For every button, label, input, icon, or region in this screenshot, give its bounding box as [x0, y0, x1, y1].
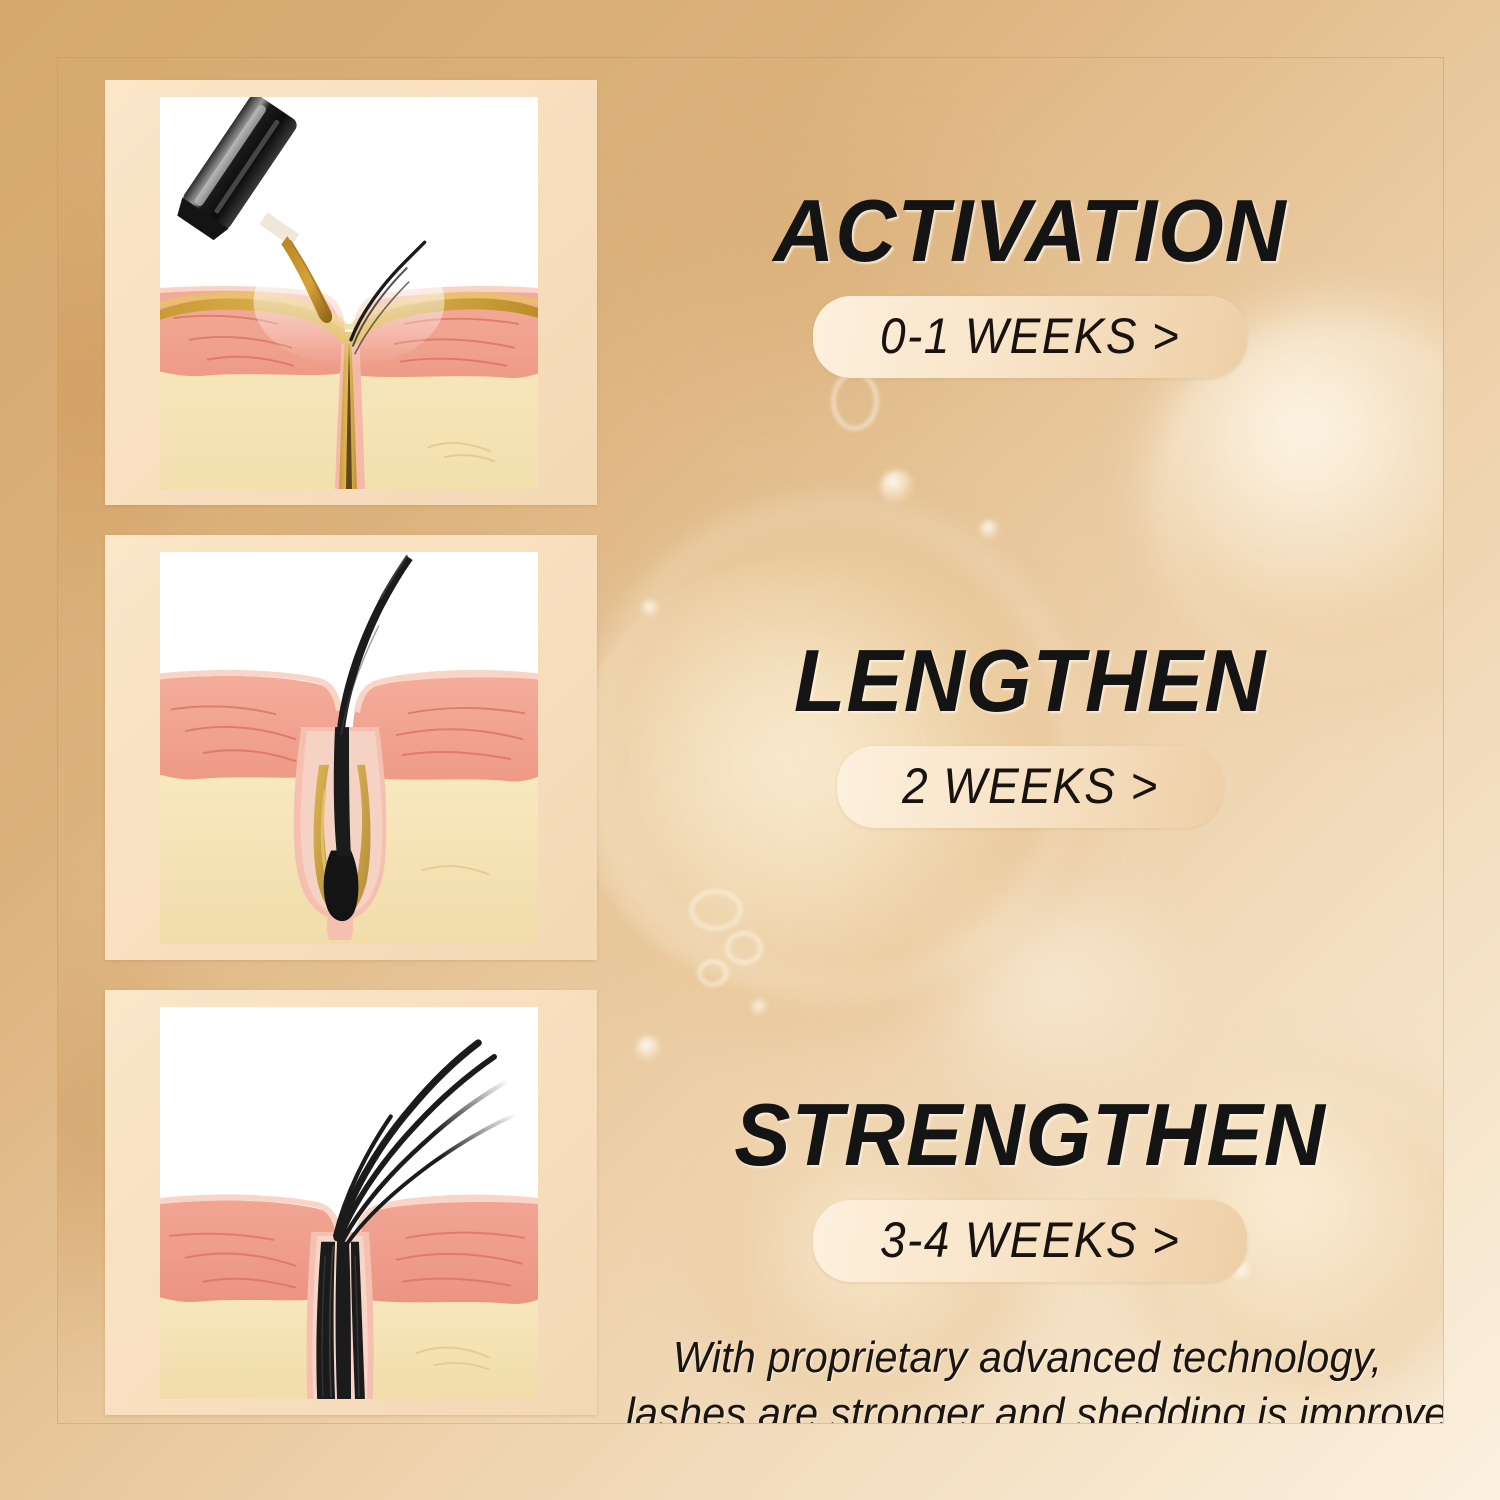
bg-blob-highlight-mid [900, 860, 1200, 1100]
footer-caption: With proprietary advanced technology, la… [626, 1330, 1430, 1423]
bg-bubble-speck [636, 1036, 662, 1062]
bg-bubble-outline [726, 932, 762, 964]
step-title-lengthen: LENGTHEN [636, 636, 1423, 726]
step-badge-activation[interactable]: 0-1 WEEKS > [813, 296, 1247, 378]
bg-bubble-speck [752, 1000, 768, 1016]
bg-bubble-speck [980, 520, 1000, 540]
step-lengthen: LENGTHEN 2 WEEKS > [620, 636, 1440, 828]
lash-serum-infographic: ACTIVATION 0-1 WEEKS > LENGTHEN 2 WEEKS … [0, 0, 1500, 1500]
step-activation: ACTIVATION 0-1 WEEKS > [620, 186, 1440, 378]
illustration-single-lash-growing-from-follicle [160, 552, 538, 944]
panel-card-strengthen [105, 990, 597, 1415]
step-title-strengthen: STRENGTHEN [636, 1090, 1423, 1180]
illustration-serum-applicator-on-follicle [160, 97, 538, 489]
bg-bubble-speck [880, 470, 914, 504]
illustration-panel-stack [105, 80, 597, 1415]
bg-ring-top-right [1160, 330, 1443, 674]
bg-bubble-outline [690, 890, 742, 930]
step-badge-label-activation: 0-1 WEEKS > [880, 308, 1180, 364]
step-badge-label-lengthen: 2 WEEKS > [902, 758, 1159, 814]
step-strengthen: STRENGTHEN 3-4 WEEKS > [620, 1090, 1440, 1282]
panel-card-lengthen [105, 535, 597, 960]
step-title-activation: ACTIVATION [636, 186, 1423, 276]
illustration-multiple-thick-lashes-from-follicle [160, 1007, 538, 1399]
inner-frame: ACTIVATION 0-1 WEEKS > LENGTHEN 2 WEEKS … [58, 58, 1443, 1423]
step-badge-strengthen[interactable]: 3-4 WEEKS > [813, 1200, 1247, 1282]
frame-content: ACTIVATION 0-1 WEEKS > LENGTHEN 2 WEEKS … [58, 58, 1443, 1423]
footer-caption-line-2: lashes are stronger and shedding is impr… [626, 1386, 1430, 1423]
bg-bubble-outline [832, 372, 878, 430]
footer-caption-line-1: With proprietary advanced technology, [626, 1330, 1430, 1386]
bg-bubble-speck [642, 600, 660, 618]
step-badge-label-strengthen: 3-4 WEEKS > [880, 1212, 1180, 1268]
bg-bubble-outline [698, 960, 728, 986]
step-badge-lengthen[interactable]: 2 WEEKS > [837, 746, 1224, 828]
panel-card-activation [105, 80, 597, 505]
